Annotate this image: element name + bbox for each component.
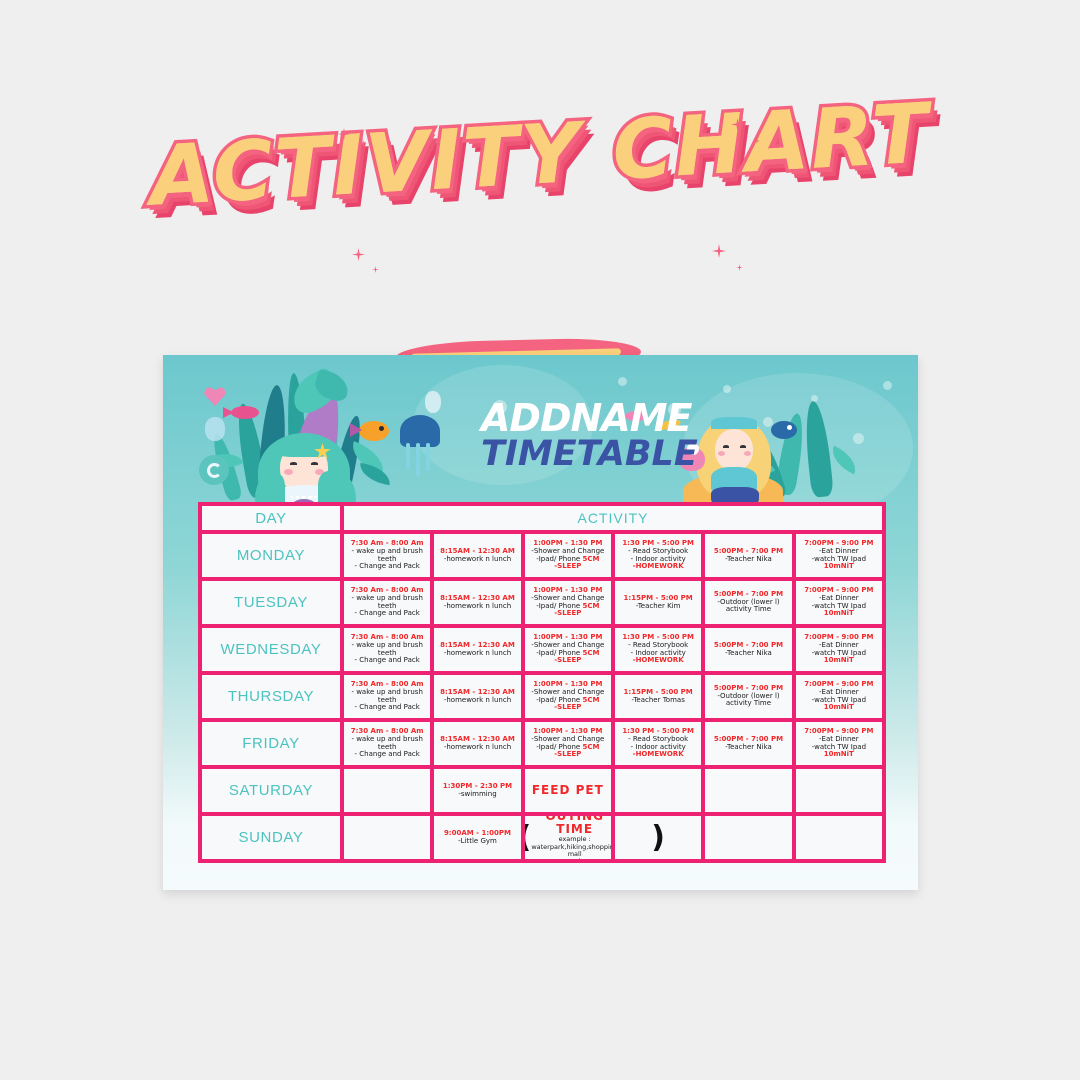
header-activity: ACTIVITY — [344, 506, 882, 530]
activity-line-highlight: 10mNiT — [824, 610, 854, 618]
activity-line: -Teacher Nika — [725, 650, 772, 658]
jellyfish-tentacle — [426, 443, 430, 471]
paren-mark: ( — [525, 823, 532, 853]
activity-line: - Change and Pack — [355, 657, 420, 665]
activity-cell[interactable]: 5:00PM - 7:00 PM-Outdoor (lower l)activi… — [705, 675, 791, 718]
activity-cell[interactable]: 8:15AM - 12:30 AM-homework n lunch — [434, 722, 520, 765]
activity-line-highlight: -HOMEWORK — [633, 751, 684, 759]
activity-line: -homework n lunch — [444, 744, 511, 752]
activity-line-highlight: 10mNiT — [824, 704, 854, 712]
activity-cell[interactable] — [705, 816, 791, 859]
activity-cell[interactable]: 7:30 Am - 8:00 Am- wake up and brushteet… — [344, 534, 430, 577]
activity-cell[interactable]: 7:00PM - 9:00 PM-Eat Dinner-watch TW Ipa… — [796, 534, 882, 577]
activity-cell[interactable]: 1:30 PM - 5:00 PM- Read Storybook- Indoo… — [615, 722, 701, 765]
activity-cell[interactable]: 7:30 Am - 8:00 Am- wake up and brushteet… — [344, 722, 430, 765]
activity-line: -homework n lunch — [444, 697, 511, 705]
card-header-titles: ADDNAME TIMETABLE — [481, 400, 741, 473]
activity-line-highlight: -SLEEP — [554, 657, 581, 665]
activity-badge: 5CM — [582, 696, 599, 704]
activity-line: - Change and Pack — [355, 751, 420, 759]
activity-cell[interactable]: 1:00PM - 1:30 PM-Shower and Change-Ipad/… — [525, 581, 611, 624]
table-row: WEDNESDAY7:30 Am - 8:00 Am- wake up and … — [202, 628, 882, 671]
activity-cell[interactable]: FEED PET — [525, 769, 611, 812]
activity-cell[interactable] — [615, 769, 701, 812]
activity-cell[interactable] — [796, 816, 882, 859]
activity-cell[interactable]: 7:30 Am - 8:00 Am- wake up and brushteet… — [344, 581, 430, 624]
activity-badge: 5CM — [582, 555, 599, 563]
activity-cell[interactable]: 7:00PM - 9:00 PM-Eat Dinner-watch TW Ipa… — [796, 722, 882, 765]
table-row: MONDAY7:30 Am - 8:00 Am- wake up and bru… — [202, 534, 882, 577]
activity-line: -homework n lunch — [444, 650, 511, 658]
jellyfish-tentacle — [416, 443, 420, 477]
mermaid-eye — [311, 462, 318, 465]
shell-swirl — [207, 463, 222, 478]
activity-cell[interactable]: 1:00PM - 1:30 PM-Shower and Change-Ipad/… — [525, 722, 611, 765]
activity-line-highlight: 10mNiT — [824, 751, 854, 759]
day-label-friday: FRIDAY — [202, 722, 340, 765]
activity-cell[interactable]: 1:00PM - 1:30 PM-Shower and Change-Ipad/… — [525, 534, 611, 577]
activity-line: - Change and Pack — [355, 704, 420, 712]
addname-label: ADDNAME — [481, 400, 741, 436]
activity-cell[interactable]: 1:30 PM - 5:00 PM- Read Storybook- Indoo… — [615, 534, 701, 577]
activity-line-highlight: -SLEEP — [554, 704, 581, 712]
activity-line-highlight: -HOMEWORK — [633, 657, 684, 665]
activity-cell[interactable]: 7:00PM - 9:00 PM-Eat Dinner-watch TW Ipa… — [796, 581, 882, 624]
activity-line: -swimming — [458, 791, 496, 799]
header-day: DAY — [202, 506, 340, 530]
activity-line: -Teacher Nika — [725, 556, 772, 564]
activity-badge: 5CM — [582, 649, 599, 657]
sparkle-icon — [372, 266, 379, 273]
table-row: TUESDAY7:30 Am - 8:00 Am- wake up and br… — [202, 581, 882, 624]
activity-line: activity Time — [726, 606, 771, 614]
fish-icon — [771, 421, 797, 439]
activity-line: -homework n lunch — [444, 603, 511, 611]
heart-icon — [204, 386, 226, 406]
activity-line: -Teacher Nika — [725, 744, 772, 752]
bubble-icon — [723, 385, 731, 393]
activity-line-highlight: 10mNiT — [824, 563, 854, 571]
activity-line: -homework n lunch — [444, 556, 511, 564]
mermaid-cheek — [284, 469, 293, 475]
activity-line-highlight: -SLEEP — [554, 751, 581, 759]
activity-line: - Change and Pack — [355, 563, 420, 571]
activity-cell[interactable]: 1:30 PM - 5:00 PM- Read Storybook- Indoo… — [615, 628, 701, 671]
day-label-tuesday: TUESDAY — [202, 581, 340, 624]
table-row: THURSDAY7:30 Am - 8:00 Am- wake up and b… — [202, 675, 882, 718]
activity-cell[interactable]: 1:15PM - 5:00 PM-Teacher Tomas — [615, 675, 701, 718]
activity-cell[interactable]: 1:15PM - 5:00 PM-Teacher Kim — [615, 581, 701, 624]
activity-cell[interactable] — [344, 816, 430, 859]
activity-cell[interactable]: 7:30 Am - 8:00 Am- wake up and brushteet… — [344, 628, 430, 671]
mermaid-eye — [290, 462, 297, 465]
mermaid2-cheek — [744, 451, 751, 456]
activity-badge: 5CM — [582, 743, 599, 751]
activity-subtext: camping — [561, 858, 589, 859]
activity-cell[interactable] — [796, 769, 882, 812]
activity-cell[interactable]: 8:15AM - 12:30 AM-homework n lunch — [434, 581, 520, 624]
activity-line-highlight: 10mNiT — [824, 657, 854, 665]
fish-icon — [231, 406, 259, 419]
activity-line: -Teacher Kim — [636, 603, 681, 611]
bubble-icon — [883, 381, 892, 390]
activity-cell[interactable]: 1:00PM - 1:30 PM-Shower and Change-Ipad/… — [525, 628, 611, 671]
day-label-thursday: THURSDAY — [202, 675, 340, 718]
activity-cell[interactable]: 7:30 Am - 8:00 Am- wake up and brushteet… — [344, 675, 430, 718]
bubble-icon — [853, 433, 864, 444]
activity-cell[interactable]: 5:00PM - 7:00 PM-Outdoor (lower l)activi… — [705, 581, 791, 624]
fish-eye-icon — [379, 426, 384, 431]
fish-icon — [359, 421, 389, 441]
activity-cell[interactable]: 1:00PM - 1:30 PM-Shower and Change-Ipad/… — [525, 675, 611, 718]
sparkle-icon — [712, 244, 726, 258]
day-label-saturday: SATURDAY — [202, 769, 340, 812]
activity-headline: FEED PET — [532, 784, 604, 797]
jellyfish-tentacle — [406, 443, 410, 469]
activity-cell[interactable]: 8:15AM - 12:30 AM-homework n lunch — [434, 534, 520, 577]
activity-cell[interactable] — [344, 769, 430, 812]
seaweed-leaf-icon — [358, 463, 392, 485]
activity-subtext: example : waterpark,hiking,shopping mall — [531, 836, 611, 858]
bubble-icon — [618, 377, 627, 386]
activity-cell[interactable]: (OUTING TIMEexample : waterpark,hiking,s… — [525, 816, 611, 859]
activity-line: activity Time — [726, 700, 771, 708]
table-header-row: DAY ACTIVITY — [202, 506, 882, 530]
day-label-monday: MONDAY — [202, 534, 340, 577]
activity-cell[interactable]: 9:00AM - 1:00PM-Little Gym — [434, 816, 520, 859]
activity-cell[interactable]: 7:00PM - 9:00 PM-Eat Dinner-watch TW Ipa… — [796, 675, 882, 718]
activity-cell[interactable]: 1:30PM - 2:30 PM-swimming — [434, 769, 520, 812]
fish-eye-icon — [787, 425, 792, 430]
activity-line: -Little Gym — [458, 838, 497, 846]
activity-cell[interactable]: 8:15AM - 12:30 AM-homework n lunch — [434, 628, 520, 671]
sparkle-icon — [352, 248, 365, 261]
bubble-icon — [205, 417, 225, 441]
activity-badge: 5CM — [582, 602, 599, 610]
day-label-wednesday: WEDNESDAY — [202, 628, 340, 671]
activity-line-highlight: -SLEEP — [554, 610, 581, 618]
paren-mark: ) — [651, 823, 665, 853]
activity-headline: OUTING TIME — [531, 816, 611, 836]
activity-cell[interactable]: 5:00PM - 7:00 PM-Teacher Nika — [705, 534, 791, 577]
timetable-grid: DAY ACTIVITY MONDAY7:30 Am - 8:00 Am- wa… — [198, 502, 886, 863]
activity-cell[interactable]: 5:00PM - 7:00 PM-Teacher Nika — [705, 722, 791, 765]
activity-line-highlight: -HOMEWORK — [633, 563, 684, 571]
jellyfish-icon — [400, 415, 440, 447]
bubble-icon — [425, 391, 441, 413]
activity-line: - Change and Pack — [355, 610, 420, 618]
poster-title: ACTIVITY CHART ACTIVITY CHART ACTIVITY C… — [0, 108, 1080, 308]
day-label-sunday: SUNDAY — [202, 816, 340, 859]
activity-cell[interactable]: ) — [615, 816, 701, 859]
pearl-necklace — [289, 493, 319, 499]
activity-chart-card: ADDNAME TIMETABLE DAY ACTIVITY MONDAY7:3… — [163, 355, 918, 890]
activity-cell[interactable]: 8:15AM - 12:30 AM-homework n lunch — [434, 675, 520, 718]
timetable-label: TIMETABLE — [481, 436, 741, 473]
activity-cell[interactable] — [705, 769, 791, 812]
table-row: SUNDAY9:00AM - 1:00PM-Little Gym(OUTING … — [202, 816, 882, 859]
table-row: FRIDAY7:30 Am - 8:00 Am- wake up and bru… — [202, 722, 882, 765]
activity-line-highlight: -SLEEP — [554, 563, 581, 571]
activity-cell[interactable]: 7:00PM - 9:00 PM-Eat Dinner-watch TW Ipa… — [796, 628, 882, 671]
activity-line: -Teacher Tomas — [631, 697, 684, 705]
sparkle-icon — [736, 264, 743, 271]
activity-cell[interactable]: 5:00PM - 7:00 PM-Teacher Nika — [705, 628, 791, 671]
table-row: SATURDAY1:30PM - 2:30 PM-swimmingFEED PE… — [202, 769, 882, 812]
